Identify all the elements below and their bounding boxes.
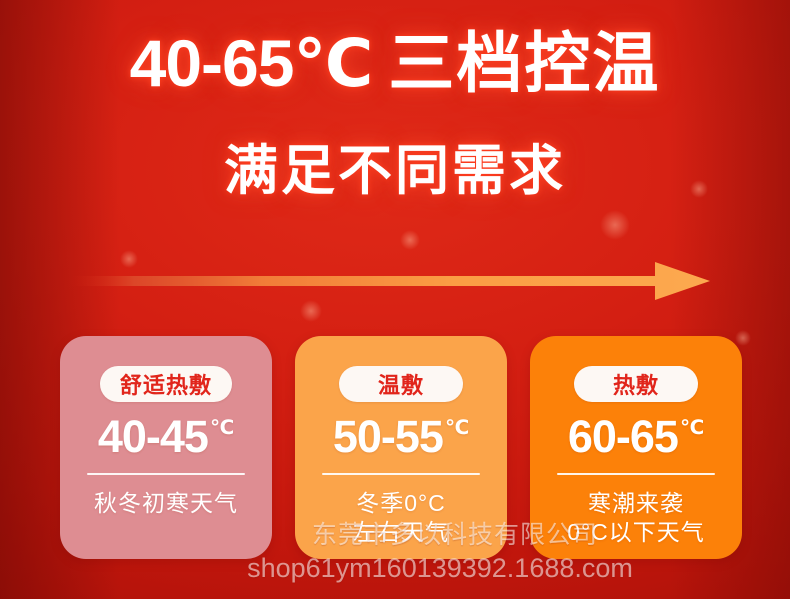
card-temperature-unit: ℃ xyxy=(210,418,234,438)
card-description-line: 秋冬初寒天气 xyxy=(94,489,238,518)
card-temperature: 60-65 ℃ xyxy=(568,414,704,459)
card-divider xyxy=(322,473,480,475)
promo-poster: 40-65℃三档控温 满足不同需求 舒适热敷 40-45 xyxy=(0,0,790,599)
card-description-line: 寒潮来袭 xyxy=(567,489,705,518)
card-temperature-value: 60-65 xyxy=(568,414,678,459)
card-temperature-unit: ℃ xyxy=(445,418,469,438)
headline-phrase: 三档控温 xyxy=(388,26,660,100)
headline-row: 40-65℃三档控温 xyxy=(0,30,790,97)
card-badge-label: 舒适热敷 xyxy=(120,368,212,400)
headline-temperature-range: 40-65℃ xyxy=(130,26,373,100)
card-divider xyxy=(87,473,245,475)
card-badge-label: 温敷 xyxy=(378,368,424,400)
card-temperature-value: 50-55 xyxy=(333,414,443,459)
arrow-icon xyxy=(70,262,710,300)
card-description: 秋冬初寒天气 xyxy=(94,489,238,518)
card-description: 冬季0°C 左右天气 xyxy=(353,489,449,548)
card-description-line: 冬季0°C xyxy=(353,489,449,518)
bokeh-speck xyxy=(400,230,420,250)
bokeh-speck xyxy=(600,210,630,240)
temperature-card-hot[interactable]: 热敷 60-65 ℃ 寒潮来袭 0°C以下天气 xyxy=(530,336,742,559)
card-description-line: 左右天气 xyxy=(353,518,449,547)
subline-row: 满足不同需求 xyxy=(0,126,790,205)
card-divider xyxy=(557,473,715,475)
card-badge-label: 热敷 xyxy=(613,368,659,400)
card-badge: 温敷 xyxy=(339,366,463,402)
bokeh-speck xyxy=(300,300,322,322)
card-badge: 舒适热敷 xyxy=(100,366,232,402)
card-badge: 热敷 xyxy=(574,366,698,402)
card-temperature-unit: ℃ xyxy=(680,418,704,438)
card-description-line: 0°C以下天气 xyxy=(567,518,705,547)
temperature-card-warm[interactable]: 温敷 50-55 ℃ 冬季0°C 左右天气 xyxy=(295,336,507,559)
temperature-card-comfort[interactable]: 舒适热敷 40-45 ℃ 秋冬初寒天气 xyxy=(60,336,272,559)
card-temperature: 50-55 ℃ xyxy=(333,414,469,459)
card-description: 寒潮来袭 0°C以下天气 xyxy=(567,489,705,548)
progress-arrow xyxy=(70,262,710,300)
card-temperature: 40-45 ℃ xyxy=(98,414,234,459)
card-temperature-value: 40-45 xyxy=(98,414,208,459)
poster-headline: 40-65℃三档控温 xyxy=(130,30,661,97)
poster-subline: 满足不同需求 xyxy=(224,126,566,205)
temperature-card-list: 舒适热敷 40-45 ℃ 秋冬初寒天气 温敷 50-55 ℃ 冬季0°C 左右天… xyxy=(60,336,742,559)
